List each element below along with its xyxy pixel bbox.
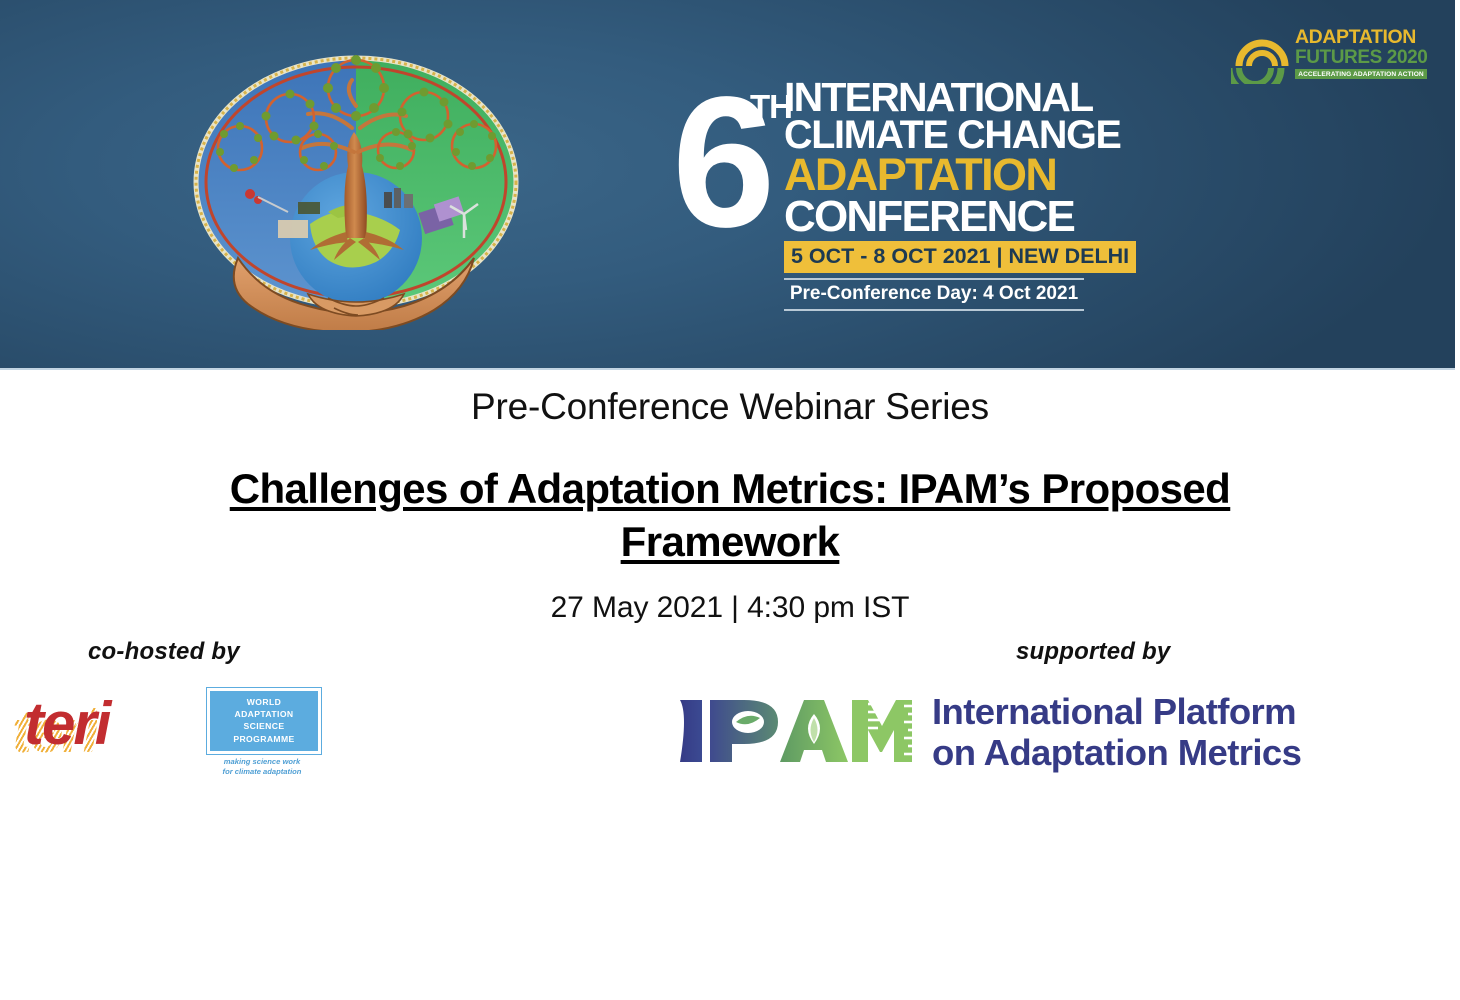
teri-logo: teri teri [12,686,158,766]
adaptation-futures-line-1: ADAPTATION [1295,28,1427,48]
wasp-line-3: SCIENCE [212,720,316,732]
adaptation-futures-logo: ADAPTATION FUTURES 2020 ACCELERATING ADA… [1231,20,1427,86]
talk-title-line-2: Framework [621,518,840,565]
adaptation-futures-line-2: FUTURES 2020 [1295,48,1427,67]
wasp-line-2: ADAPTATION [212,708,316,720]
wasp-tagline: making science work for climate adaptati… [207,757,317,777]
conference-logo: 6 TH INTERNATIONAL CLIMATE CHANGE ADAPTA… [672,78,1092,300]
pre-conference-day-text: Pre-Conference Day: 4 Oct 2021 [784,283,1084,305]
webinar-series-label: Pre-Conference Webinar Series [0,386,1460,428]
conference-title-line-adaptation: ADAPTATION [784,154,1092,196]
tree-of-life-globe-hands-illustration [178,42,534,330]
wasp-tagline-line-2: for climate adaptation [207,767,317,777]
wasp-tagline-line-1: making science work [207,757,317,767]
ipam-full-name: International Platform on Adaptation Met… [932,692,1301,773]
conference-banner: 6 TH INTERNATIONAL CLIMATE CHANGE ADAPTA… [0,0,1455,370]
talk-datetime: 27 May 2021 | 4:30 pm IST [0,591,1460,625]
conference-date-bar: 5 OCT - 8 OCT 2021 | NEW DELHI [784,241,1136,273]
ipam-name-line-2: on Adaptation Metrics [932,733,1301,774]
wasp-line-1: WORLD [212,696,316,708]
pre-conference-day-band: Pre-Conference Day: 4 Oct 2021 [784,278,1084,311]
teri-wordmark: teri [24,694,109,754]
conference-title-line-conference: CONFERENCE [784,196,1092,237]
ipam-acronym-mark [676,690,926,770]
talk-title-line-1: Challenges of Adaptation Metrics: IPAM’s… [230,465,1231,512]
cohosted-by-label: co-hosted by [88,638,240,666]
adaptation-futures-arc-icon [1231,22,1293,84]
wasp-logo-box: WORLD ADAPTATION SCIENCE PROGRAMME [207,688,321,754]
wasp-line-4: PROGRAMME [212,733,316,745]
ipam-name-line-1: International Platform [932,692,1301,733]
supported-by-label: supported by [1016,638,1170,666]
ipam-logo: International Platform on Adaptation Met… [676,690,1428,770]
world-adaptation-science-programme-logo: WORLD ADAPTATION SCIENCE PROGRAMME makin… [207,688,317,766]
adaptation-futures-tagline: ACCELERATING ADAPTATION ACTION [1295,69,1427,79]
talk-title: Challenges of Adaptation Metrics: IPAM’s… [130,463,1330,569]
conference-title-line-international: INTERNATIONAL [784,78,1092,117]
